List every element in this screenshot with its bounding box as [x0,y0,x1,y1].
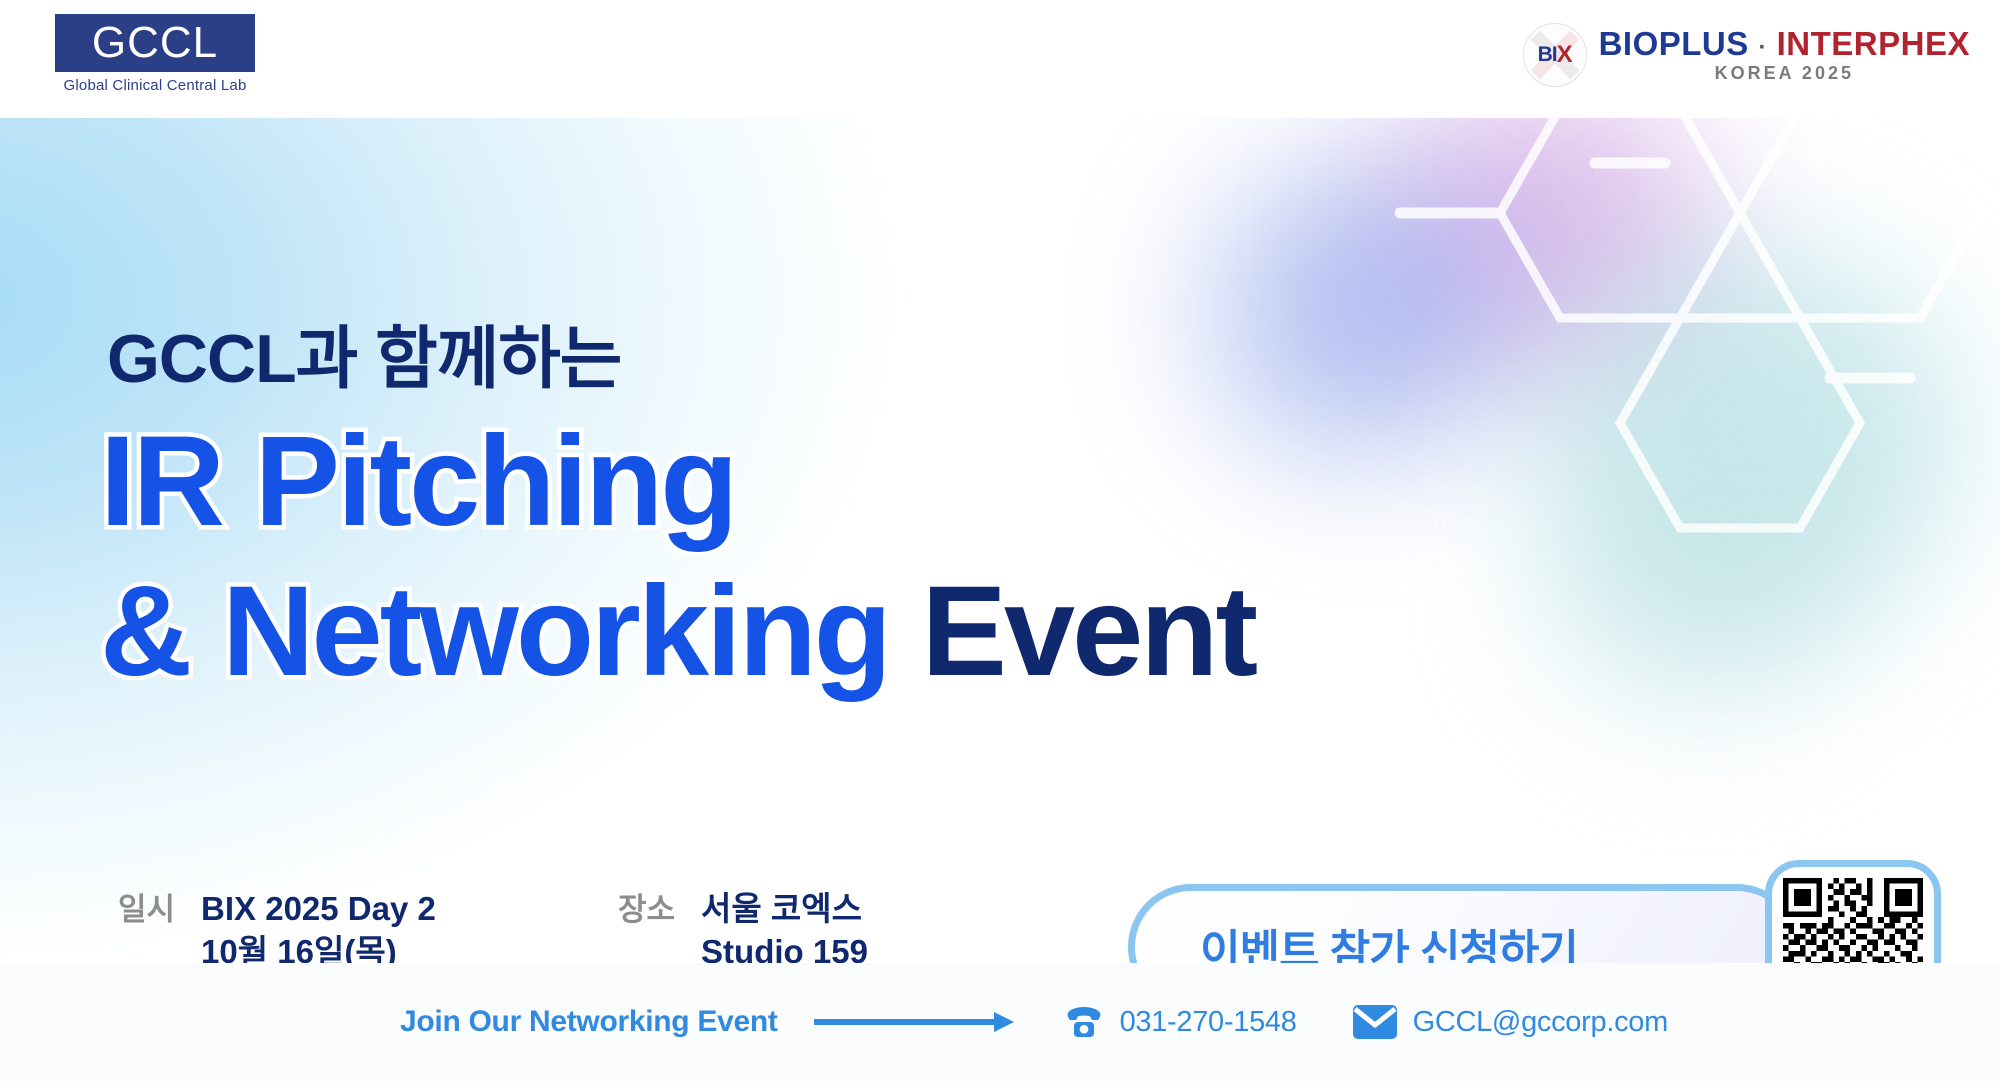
gccl-logo-text: GCCL [92,21,218,65]
qr-code-box[interactable] [1765,860,1941,963]
bix-separator: · [1758,34,1767,61]
event-place-line: 서울 코엑스 [701,888,868,931]
phone-icon [1064,1002,1104,1042]
event-date-block: 일시 BIX 2025 Day 2 10월 16일(목) 16:00~18:00 [118,888,436,963]
bix-badge-label: BIX [1524,24,1586,86]
email-address: GCCL@gccorp.com [1413,1006,1668,1039]
email-contact[interactable]: GCCL@gccorp.com [1353,1005,1668,1039]
bix-badge-x: X [1557,41,1572,69]
event-place-line: Studio 159 [701,931,868,963]
bix-wordmark-sub: KOREA 2025 [1715,63,1854,84]
hero-title-line-1: IR Pitching [100,418,735,546]
bix-interphex: INTERPHEX [1777,25,1970,62]
cta-area: 이벤트 참가 신청하기 [1128,860,1928,963]
bix-wordmark: BIOPLUS · INTERPHEX KOREA 2025 [1599,27,1970,84]
gccl-logo-tagline: Global Clinical Central Lab [55,77,255,94]
register-button[interactable]: 이벤트 참가 신청하기 [1128,884,1800,963]
hero-title-line-2: & Networking Event [100,568,1255,696]
event-place-label: 장소 [618,888,675,931]
hero-title-ir-pitching: IR Pitching [100,410,735,553]
event-place-block: 장소 서울 코엑스 Studio 159 [618,888,868,963]
bix-badge-icon: BIX [1523,23,1587,87]
phone-contact[interactable]: 031-270-1548 [1064,1002,1297,1042]
hero-kicker: GCCL과 함께하는 [107,303,621,402]
phone-number: 031-270-1548 [1120,1006,1297,1039]
event-poster: GCCL Global Clinical Central Lab BIX BIO… [0,0,2000,1081]
event-date-line: BIX 2025 Day 2 [201,888,436,931]
gccl-logo: GCCL Global Clinical Central Lab [55,14,265,94]
bix-wordmark-main: BIOPLUS · INTERPHEX [1599,27,1970,60]
hero-title-networking: & Networking [100,560,889,703]
event-date-label: 일시 [118,888,175,931]
poster-header: GCCL Global Clinical Central Lab BIX BIO… [0,0,2000,118]
hero-stage: GCCL과 함께하는 IR Pitching & Networking Even… [0,118,2000,963]
envelope-icon [1353,1005,1397,1039]
bix-logo: BIX BIOPLUS · INTERPHEX KOREA 2025 [1523,10,1970,100]
event-place-value: 서울 코엑스 Studio 159 [701,888,868,963]
join-networking-text: Join Our Networking Event [400,1005,778,1039]
event-date-value: BIX 2025 Day 2 10월 16일(목) 16:00~18:00 [201,888,436,963]
hero-title-event: Event [922,560,1256,703]
event-date-line: 10월 16일(목) [201,931,436,963]
arrow-right-icon [814,1009,1014,1035]
footer-row: Join Our Networking Event 031-270-1548 [400,993,1724,1051]
bix-bioplus: BIOPLUS [1599,25,1749,62]
gccl-logo-mark: GCCL [55,14,255,72]
register-button-label: 이벤트 참가 신청하기 [1200,915,1728,963]
qr-code-icon [1783,878,1923,963]
bix-badge-bi: BI [1538,43,1557,67]
hexagon-pattern-icon [1350,118,1990,608]
poster-footer: Join Our Networking Event 031-270-1548 [0,963,2000,1081]
